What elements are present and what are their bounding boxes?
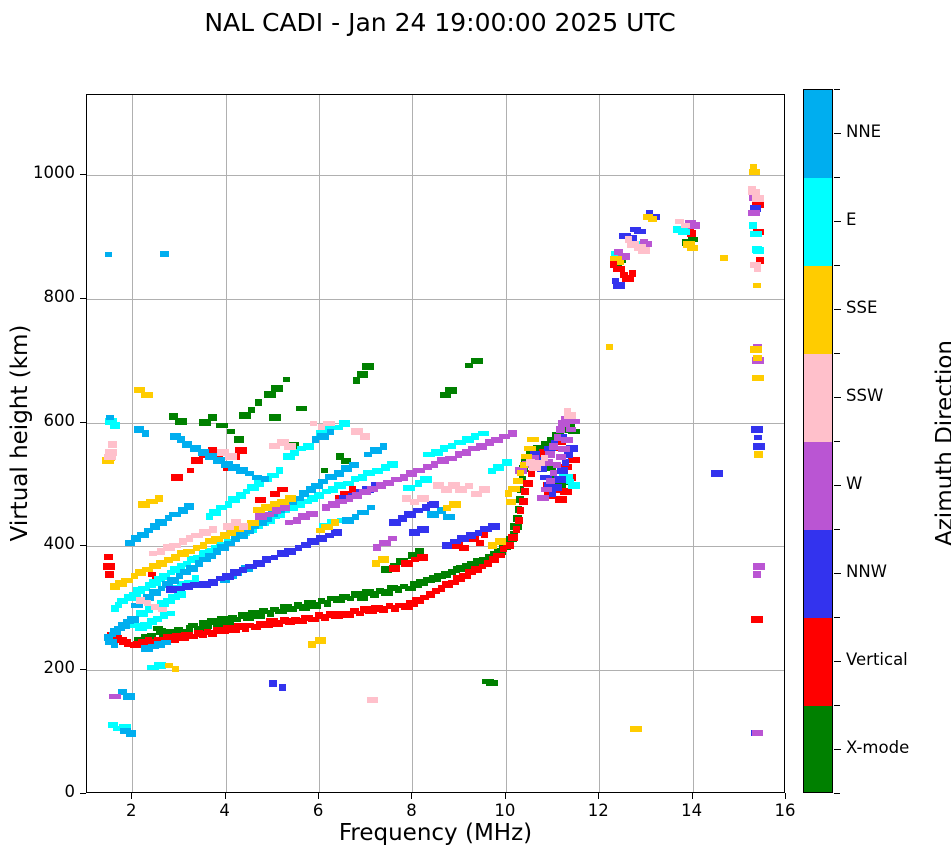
data-point bbox=[562, 459, 569, 466]
colorbar-tick bbox=[834, 485, 841, 486]
data-point bbox=[285, 495, 296, 502]
data-point bbox=[279, 684, 286, 691]
gridline-vertical bbox=[226, 95, 227, 792]
colorbar-tick bbox=[834, 133, 841, 134]
data-point bbox=[517, 470, 524, 476]
data-point bbox=[417, 554, 428, 561]
x-tick bbox=[318, 793, 319, 799]
data-point bbox=[558, 446, 570, 452]
data-point bbox=[191, 457, 203, 464]
data-point bbox=[554, 434, 561, 441]
gridline-vertical bbox=[412, 95, 413, 792]
data-point bbox=[269, 414, 281, 421]
data-point bbox=[264, 391, 276, 398]
colorbar-segment-nnw bbox=[804, 530, 832, 618]
data-point bbox=[105, 252, 112, 257]
data-point bbox=[380, 443, 387, 450]
x-tick-label: 16 bbox=[755, 801, 815, 820]
colorbar-tick bbox=[834, 573, 841, 574]
data-point bbox=[465, 363, 473, 368]
colorbar-boundary-tick bbox=[834, 353, 840, 354]
data-point bbox=[255, 399, 262, 406]
data-point bbox=[420, 476, 432, 483]
gridline-vertical bbox=[599, 95, 600, 792]
data-point bbox=[255, 497, 266, 503]
colorbar-label-nnw: NNW bbox=[846, 562, 887, 581]
data-point bbox=[486, 680, 498, 686]
data-point bbox=[123, 693, 135, 700]
data-point bbox=[537, 495, 549, 501]
data-point bbox=[550, 470, 557, 476]
x-axis-title: Frequency (MHz) bbox=[86, 820, 785, 846]
data-point bbox=[360, 433, 370, 440]
x-tick-label: 12 bbox=[568, 801, 628, 820]
data-point bbox=[367, 505, 375, 510]
x-tick-label: 8 bbox=[381, 801, 441, 820]
data-point bbox=[389, 565, 400, 572]
data-point bbox=[568, 482, 580, 489]
colorbar-boundary-tick bbox=[834, 265, 840, 266]
data-point bbox=[556, 454, 566, 460]
data-point bbox=[471, 358, 483, 364]
gridline-vertical bbox=[319, 95, 320, 792]
x-tick bbox=[225, 793, 226, 799]
data-point bbox=[367, 697, 378, 703]
data-point bbox=[521, 488, 529, 495]
x-tick bbox=[692, 793, 693, 799]
y-tick-label: 0 bbox=[5, 782, 75, 801]
data-point bbox=[557, 467, 568, 474]
colorbar-tick bbox=[834, 749, 841, 750]
data-point bbox=[349, 462, 359, 468]
colorbar-label-vertical: Vertical bbox=[846, 650, 908, 669]
data-point bbox=[109, 694, 121, 699]
data-point bbox=[276, 467, 283, 474]
data-point bbox=[606, 344, 613, 350]
colorbar-segment-x-mode bbox=[804, 706, 832, 793]
x-tick-label: 6 bbox=[288, 801, 348, 820]
data-point bbox=[720, 255, 728, 261]
data-point bbox=[443, 514, 455, 520]
data-point bbox=[331, 529, 342, 536]
colorbar-tick bbox=[834, 309, 841, 310]
data-point bbox=[527, 437, 539, 442]
data-point bbox=[753, 355, 762, 361]
data-point bbox=[388, 536, 397, 541]
data-point bbox=[629, 270, 636, 277]
y-tick bbox=[80, 545, 86, 546]
data-point bbox=[541, 455, 548, 461]
data-point bbox=[753, 571, 761, 578]
data-point bbox=[753, 247, 764, 254]
data-point bbox=[687, 245, 698, 251]
data-point bbox=[634, 229, 646, 234]
data-point bbox=[515, 517, 523, 524]
data-point bbox=[125, 540, 135, 546]
data-point bbox=[681, 223, 690, 228]
data-point bbox=[455, 451, 462, 458]
data-point bbox=[296, 406, 307, 411]
data-point bbox=[155, 495, 163, 502]
data-point bbox=[566, 427, 576, 432]
data-point bbox=[362, 363, 374, 370]
data-point bbox=[459, 545, 469, 551]
gridline-horizontal bbox=[87, 546, 784, 547]
data-point bbox=[517, 507, 524, 514]
x-tick-label: 4 bbox=[195, 801, 255, 820]
data-point bbox=[110, 583, 120, 590]
data-point bbox=[216, 423, 228, 428]
x-tick bbox=[505, 793, 506, 799]
data-point bbox=[508, 486, 520, 492]
data-point bbox=[554, 476, 566, 483]
colorbar-segment-sse bbox=[804, 266, 832, 354]
data-point bbox=[678, 228, 690, 235]
y-tick bbox=[80, 422, 86, 423]
data-point bbox=[270, 491, 280, 497]
y-tick bbox=[80, 669, 86, 670]
gridline-vertical bbox=[132, 95, 133, 792]
data-point bbox=[225, 453, 237, 460]
scatter-layer bbox=[87, 95, 784, 792]
colorbar-segment-w bbox=[804, 442, 832, 530]
data-point bbox=[239, 523, 248, 530]
data-point bbox=[353, 377, 360, 384]
data-point bbox=[327, 429, 334, 435]
data-point bbox=[104, 554, 113, 560]
data-point bbox=[479, 486, 490, 493]
data-point bbox=[110, 422, 120, 429]
data-point bbox=[524, 446, 536, 451]
data-point bbox=[613, 266, 625, 272]
data-point bbox=[190, 582, 200, 588]
page-title: NAL CADI - Jan 24 19:00:00 2025 UTC bbox=[0, 8, 880, 37]
gridline-horizontal bbox=[87, 299, 784, 300]
y-axis-title: Virtual height (km) bbox=[7, 83, 33, 783]
colorbar-segment-e bbox=[804, 178, 832, 266]
data-point bbox=[166, 611, 175, 616]
colorbar-tick bbox=[834, 661, 841, 662]
colorbar-label-sse: SSE bbox=[846, 298, 877, 317]
y-tick bbox=[80, 174, 86, 175]
data-point bbox=[142, 430, 149, 437]
data-point bbox=[417, 526, 429, 533]
data-point bbox=[440, 445, 448, 452]
gridline-horizontal bbox=[87, 670, 784, 671]
data-point bbox=[323, 421, 335, 426]
data-point bbox=[170, 433, 181, 440]
data-point bbox=[561, 437, 573, 443]
data-point bbox=[283, 377, 290, 382]
data-point bbox=[261, 476, 269, 482]
data-point bbox=[549, 443, 558, 450]
data-point bbox=[158, 607, 167, 612]
data-point bbox=[104, 454, 116, 460]
y-tick bbox=[80, 298, 86, 299]
data-point bbox=[488, 523, 500, 530]
data-point bbox=[111, 605, 119, 612]
colorbar-boundary-tick bbox=[834, 89, 840, 90]
data-point bbox=[568, 419, 580, 424]
x-tick-label: 14 bbox=[662, 801, 722, 820]
data-point bbox=[284, 443, 296, 450]
data-point bbox=[339, 420, 350, 427]
x-tick bbox=[785, 793, 786, 799]
data-point bbox=[144, 600, 151, 606]
data-point bbox=[493, 553, 505, 558]
data-point bbox=[508, 534, 518, 541]
data-point bbox=[208, 414, 217, 421]
data-point bbox=[541, 487, 552, 492]
data-point bbox=[239, 412, 251, 419]
data-point bbox=[519, 498, 528, 505]
data-point bbox=[445, 387, 457, 394]
data-point bbox=[749, 222, 757, 229]
data-point bbox=[279, 504, 290, 511]
data-point bbox=[751, 616, 763, 623]
colorbar-label-x-mode: X-mode bbox=[846, 738, 909, 757]
data-point bbox=[465, 483, 473, 489]
data-point bbox=[331, 519, 339, 526]
data-point bbox=[617, 260, 624, 265]
data-point bbox=[523, 480, 533, 487]
data-point bbox=[506, 499, 516, 505]
data-point bbox=[171, 474, 183, 481]
data-point bbox=[508, 430, 517, 437]
data-point bbox=[481, 532, 488, 538]
data-point bbox=[106, 415, 114, 420]
colorbar-segment-vertical bbox=[804, 618, 832, 706]
data-point bbox=[753, 563, 765, 570]
x-tick bbox=[411, 793, 412, 799]
data-point bbox=[315, 637, 326, 644]
colorbar-title: Azimuth Direction bbox=[932, 93, 951, 793]
data-point bbox=[752, 730, 763, 736]
data-point bbox=[556, 426, 565, 433]
data-point bbox=[227, 429, 235, 434]
data-point bbox=[141, 392, 153, 398]
data-point bbox=[172, 666, 179, 672]
colorbar-boundary-tick bbox=[834, 529, 840, 530]
data-point bbox=[613, 282, 625, 289]
colorbar-label-w: W bbox=[846, 474, 862, 493]
data-point bbox=[754, 265, 761, 272]
data-point bbox=[126, 730, 136, 737]
data-point bbox=[528, 470, 535, 477]
data-point bbox=[184, 503, 194, 510]
x-tick-label: 10 bbox=[475, 801, 535, 820]
data-point bbox=[555, 496, 567, 503]
colorbar-label-ssw: SSW bbox=[846, 386, 883, 405]
data-point bbox=[753, 283, 761, 288]
data-point bbox=[513, 526, 520, 533]
data-point bbox=[209, 526, 217, 533]
colorbar-tick bbox=[834, 397, 841, 398]
data-point bbox=[262, 556, 271, 563]
y-tick bbox=[80, 793, 86, 794]
data-point bbox=[398, 515, 407, 522]
data-point bbox=[175, 418, 187, 425]
data-point bbox=[127, 616, 139, 623]
ionogram-plot-area bbox=[86, 94, 785, 793]
data-point bbox=[321, 468, 328, 473]
data-point bbox=[553, 462, 561, 468]
data-point bbox=[478, 431, 489, 436]
data-point bbox=[108, 441, 117, 448]
colorbar-boundary-tick bbox=[834, 617, 840, 618]
data-point bbox=[161, 640, 171, 645]
x-tick bbox=[598, 793, 599, 799]
colorbar-segment-nne bbox=[804, 90, 832, 178]
data-point bbox=[648, 216, 657, 222]
data-point bbox=[749, 169, 760, 175]
data-point bbox=[754, 435, 762, 440]
colorbar-segment-ssw bbox=[804, 354, 832, 442]
data-point bbox=[476, 540, 484, 546]
data-point bbox=[752, 195, 764, 202]
data-point bbox=[234, 436, 244, 443]
gridline-vertical bbox=[506, 95, 507, 792]
colorbar-boundary-tick bbox=[834, 177, 840, 178]
data-point bbox=[247, 520, 259, 526]
data-point bbox=[750, 231, 762, 237]
data-point bbox=[449, 501, 461, 508]
data-point bbox=[149, 551, 157, 556]
x-tick-label: 2 bbox=[101, 801, 161, 820]
data-point bbox=[285, 520, 293, 525]
data-point bbox=[752, 375, 764, 381]
x-tick bbox=[131, 793, 132, 799]
gridline-vertical bbox=[693, 95, 694, 792]
data-point bbox=[750, 346, 762, 353]
data-point bbox=[378, 556, 389, 563]
colorbar-label-e: E bbox=[846, 210, 856, 229]
colorbar-tick bbox=[834, 221, 841, 222]
data-point bbox=[564, 412, 576, 419]
data-point bbox=[187, 468, 194, 473]
data-point bbox=[293, 517, 301, 524]
data-point bbox=[513, 478, 523, 484]
gridline-horizontal bbox=[87, 423, 784, 424]
data-point bbox=[403, 485, 415, 491]
data-point bbox=[546, 478, 555, 484]
data-point bbox=[502, 459, 512, 466]
data-point bbox=[711, 470, 723, 477]
data-point bbox=[754, 451, 763, 458]
data-point bbox=[748, 210, 760, 216]
data-point bbox=[357, 510, 369, 515]
data-point bbox=[105, 571, 114, 578]
data-point bbox=[751, 426, 763, 433]
colorbar-boundary-tick bbox=[834, 441, 840, 442]
data-point bbox=[495, 538, 506, 545]
data-point bbox=[417, 495, 429, 502]
data-point bbox=[638, 247, 650, 254]
colorbar-label-nne: NNE bbox=[846, 122, 881, 141]
data-point bbox=[103, 563, 115, 570]
data-point bbox=[427, 501, 439, 508]
data-point bbox=[387, 461, 398, 468]
data-point bbox=[269, 680, 277, 687]
data-point bbox=[753, 443, 765, 450]
data-point bbox=[310, 421, 317, 426]
data-point bbox=[160, 251, 169, 257]
data-point bbox=[271, 385, 283, 392]
colorbar-boundary-tick bbox=[834, 705, 840, 706]
gridline-horizontal bbox=[87, 175, 784, 176]
data-point bbox=[111, 643, 118, 648]
data-point bbox=[630, 726, 642, 732]
colorbar-boundary-tick bbox=[834, 793, 840, 794]
azimuth-colorbar bbox=[803, 89, 833, 793]
data-point bbox=[303, 443, 314, 450]
